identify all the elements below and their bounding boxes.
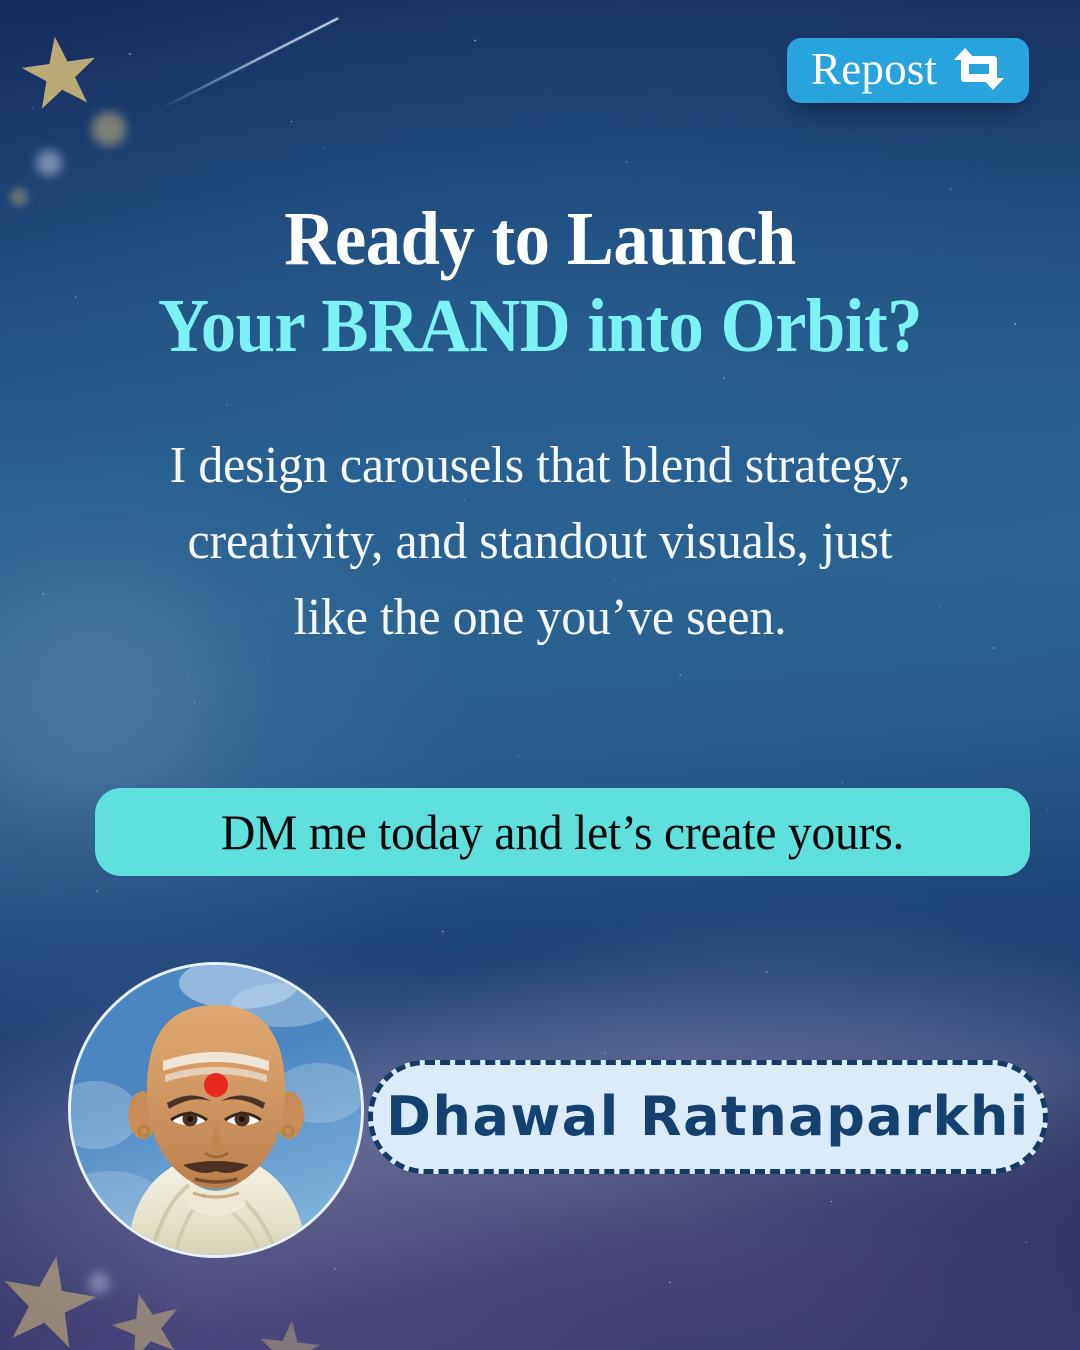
gold-star-icon bbox=[0, 1247, 104, 1350]
headline-line-2: Your BRAND into Orbit? bbox=[38, 283, 1042, 370]
profile-name: Dhawal Ratnaparkhi bbox=[386, 1090, 1030, 1144]
repost-label: Repost bbox=[811, 47, 937, 92]
cta-pill[interactable]: DM me today and let’s create yours. bbox=[95, 788, 1030, 876]
profile-name-badge: Dhawal Ratnaparkhi bbox=[368, 1060, 1048, 1174]
repost-icon bbox=[951, 46, 1007, 92]
cta-label: DM me today and let’s create yours. bbox=[221, 807, 904, 857]
headline-block: Ready to Launch Your BRAND into Orbit? bbox=[0, 196, 1080, 369]
avatar bbox=[68, 962, 364, 1258]
repost-badge[interactable]: Repost bbox=[787, 38, 1029, 103]
carousel-slide: Repost Ready to Launch Your BRAND into O… bbox=[0, 0, 1080, 1350]
headline-line-1: Ready to Launch bbox=[38, 196, 1042, 283]
gold-star-icon bbox=[255, 1317, 323, 1350]
bokeh-dot bbox=[36, 150, 62, 176]
bokeh-dot bbox=[88, 1272, 110, 1294]
gold-star-icon bbox=[17, 31, 103, 117]
bokeh-dot bbox=[92, 112, 126, 146]
shooting-star bbox=[160, 17, 339, 110]
gold-star-icon bbox=[105, 1285, 190, 1350]
body-paragraph: I design carousels that blend strategy, … bbox=[166, 428, 915, 656]
